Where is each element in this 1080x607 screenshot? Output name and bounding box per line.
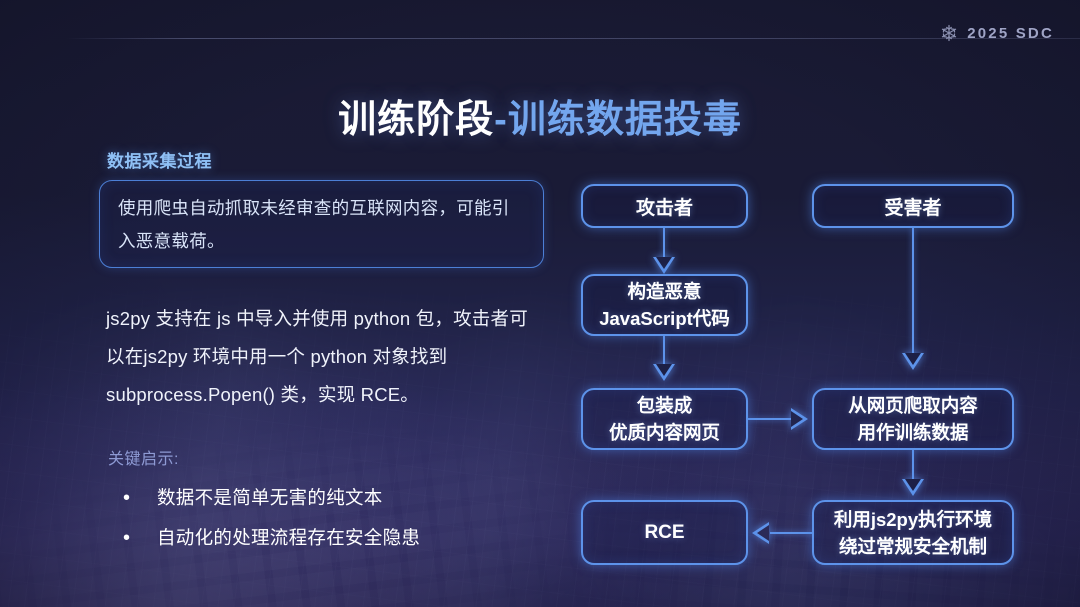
connector-js-to-package [663, 336, 665, 365]
flow-node-attacker[interactable]: 攻击者 [581, 184, 748, 228]
slide-canvas: 2025 SDC 训练阶段-训练数据投毒 数据采集过程 使用爬虫自动抓取未经审查… [0, 0, 1080, 607]
arrow-down-crawl-to-bypass [902, 479, 924, 496]
flow-node-rce[interactable]: RCE [581, 500, 748, 565]
flow-node-crawl-training-line1: 从网页爬取内容 [848, 392, 978, 419]
connector-victim-to-crawl [912, 228, 914, 354]
arrow-down-attacker-to-js [653, 257, 675, 274]
flow-node-package-page[interactable]: 包装成 优质内容网页 [581, 388, 748, 450]
flow-node-rce-line1: RCE [644, 522, 684, 544]
flow-node-victim-line1: 受害者 [884, 193, 941, 220]
arrow-right-package-to-crawl [791, 408, 808, 430]
flow-node-malicious-js[interactable]: 构造恶意 JavaScript代码 [581, 274, 748, 336]
flow-node-bypass[interactable]: 利用js2py执行环境 绕过常规安全机制 [812, 500, 1014, 565]
flow-node-package-page-line2: 优质内容网页 [609, 419, 720, 446]
flow-node-malicious-js-line1: 构造恶意 [599, 278, 730, 305]
flow-node-package-page-line1: 包装成 [609, 392, 720, 419]
arrow-down-victim-to-crawl [902, 353, 924, 370]
flowchart: 攻击者 构造恶意 JavaScript代码 包装成 优质内容网页 RCE 受害者… [0, 0, 1080, 607]
connector-bypass-to-rce [770, 532, 814, 534]
connector-package-to-crawl [748, 418, 792, 420]
connector-crawl-to-bypass [912, 450, 914, 480]
flow-node-malicious-js-line2: JavaScript代码 [599, 305, 730, 332]
flow-node-victim[interactable]: 受害者 [812, 184, 1014, 228]
arrow-down-js-to-package [653, 364, 675, 381]
flow-node-crawl-training-line2: 用作训练数据 [848, 419, 978, 446]
connector-attacker-to-js [663, 228, 665, 258]
flow-node-bypass-line1: 利用js2py执行环境 [834, 506, 992, 533]
flow-node-attacker-line1: 攻击者 [636, 193, 693, 220]
arrow-left-bypass-to-rce [752, 522, 769, 544]
flow-node-bypass-line2: 绕过常规安全机制 [834, 533, 992, 560]
flow-node-crawl-training[interactable]: 从网页爬取内容 用作训练数据 [812, 388, 1014, 450]
